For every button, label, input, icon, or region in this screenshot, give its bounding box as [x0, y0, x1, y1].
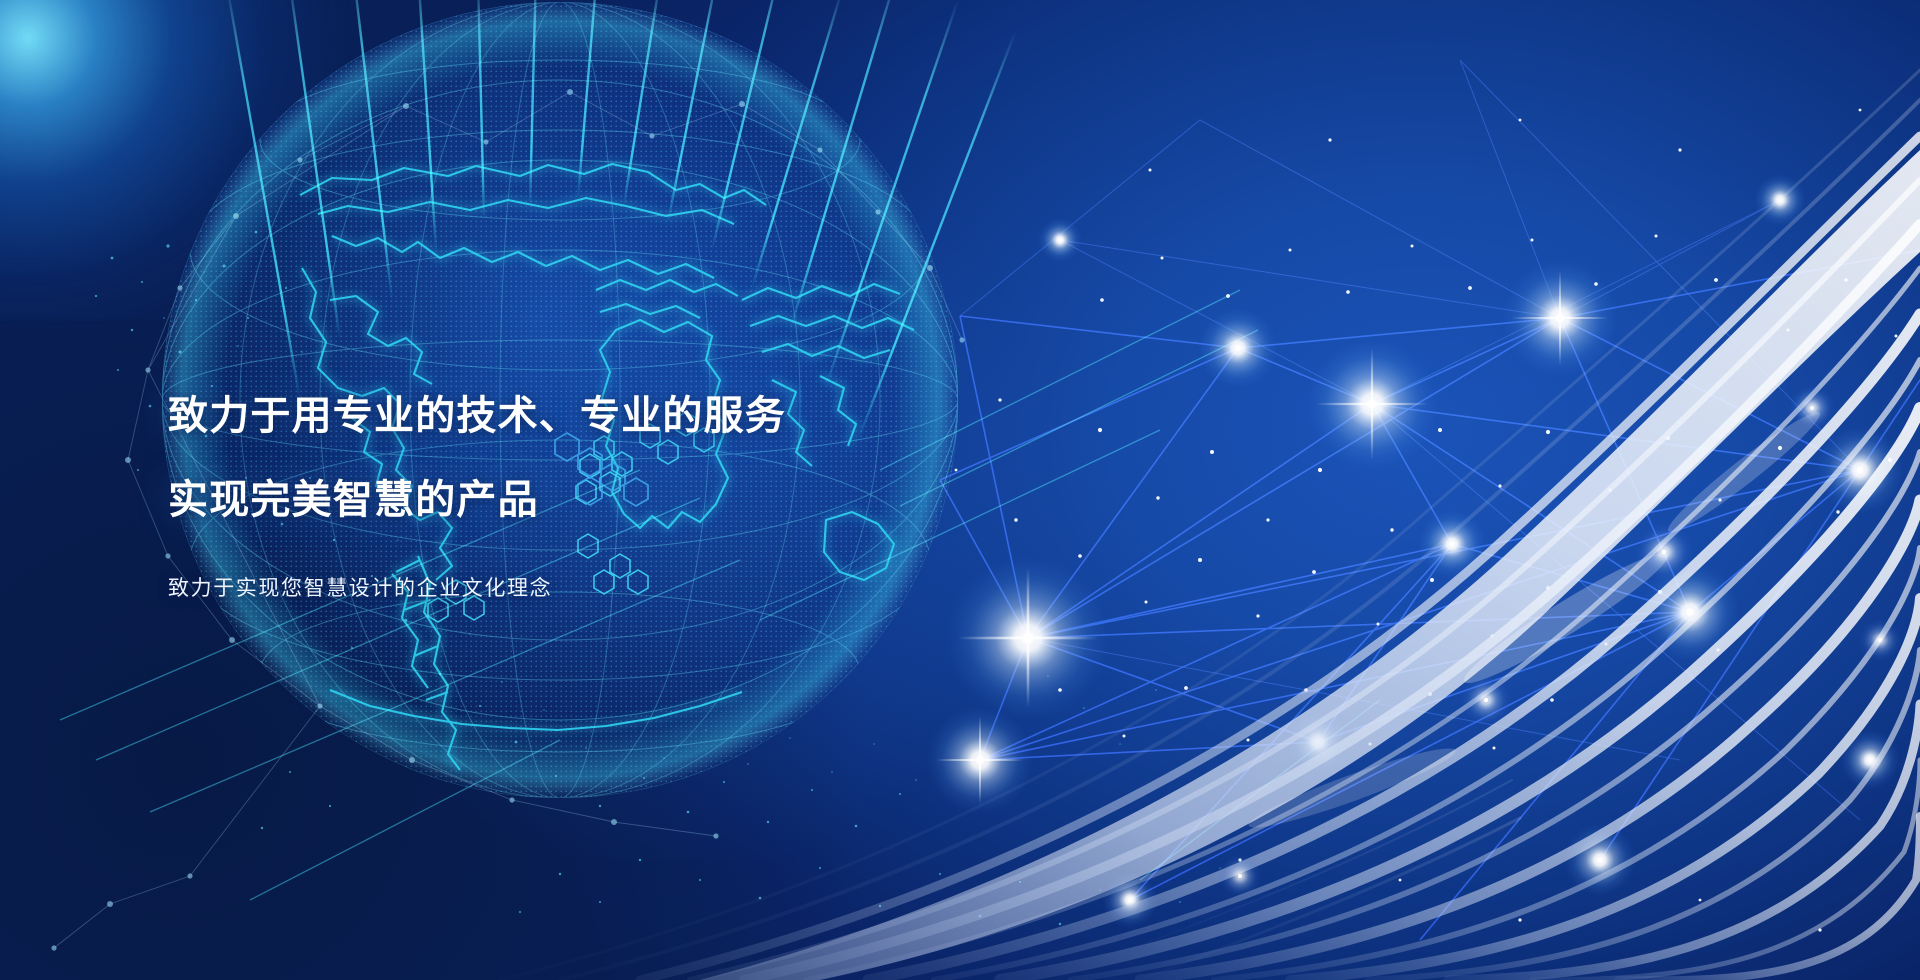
hero-banner: 致力于用专业的技术、专业的服务 实现完美智慧的产品 致力于实现您智慧设计的企业文… — [0, 0, 1920, 980]
hero-headline-line-1: 致力于用专业的技术、专业的服务 — [168, 396, 988, 436]
hero-copy-block: 致力于用专业的技术、专业的服务 实现完美智慧的产品 致力于实现您智慧设计的企业文… — [168, 396, 988, 601]
hero-headline-line-2: 实现完美智慧的产品 — [168, 480, 988, 520]
hero-subheadline: 致力于实现您智慧设计的企业文化理念 — [168, 576, 988, 601]
